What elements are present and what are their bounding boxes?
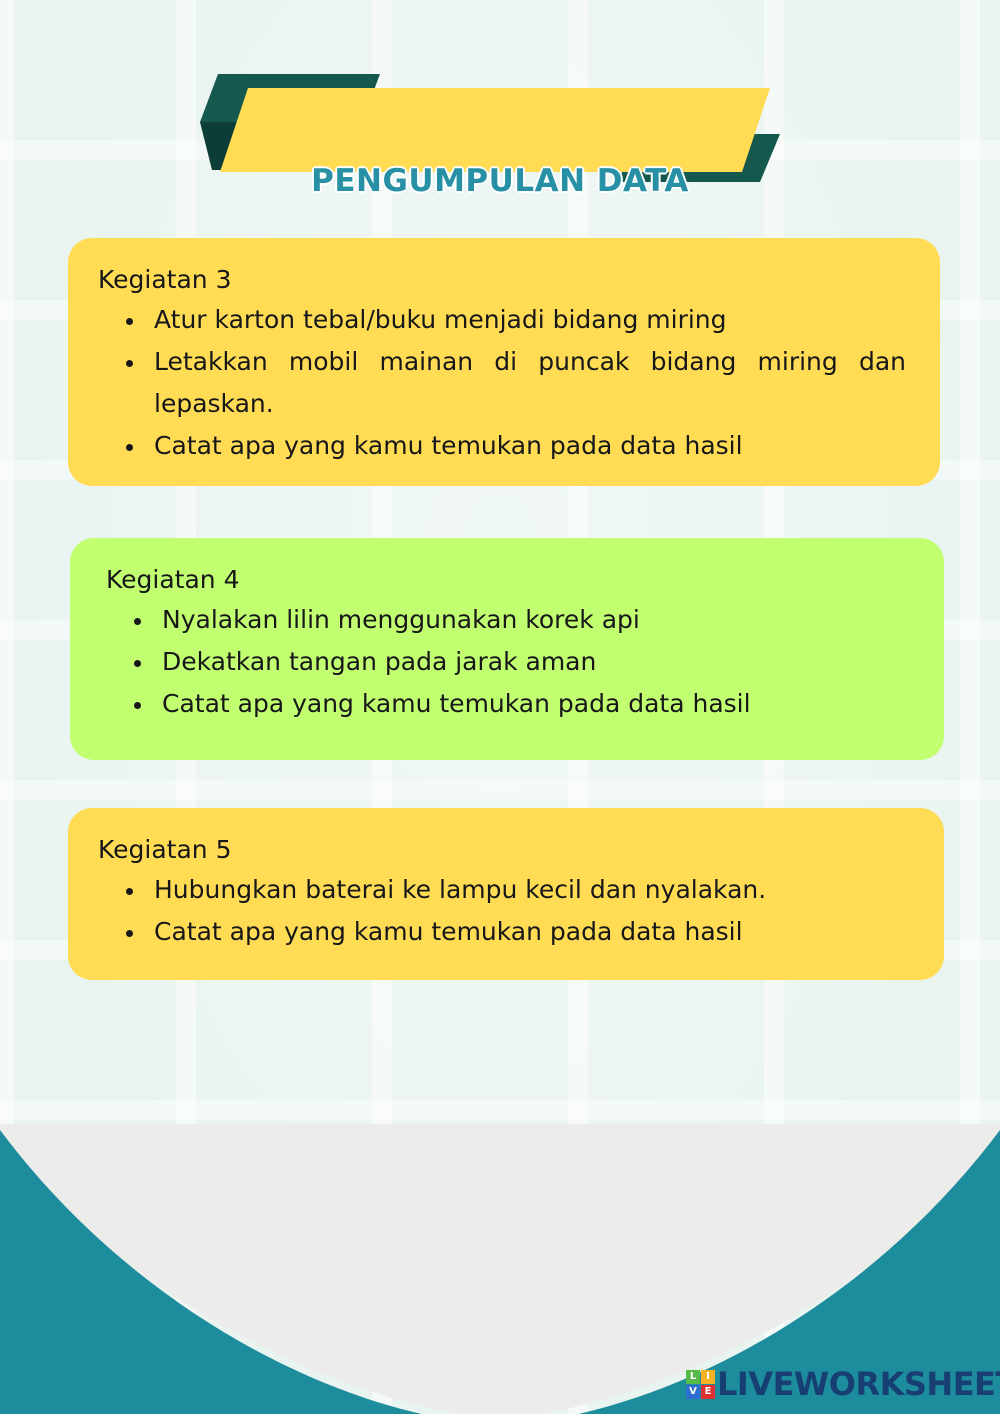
logo-tile-i: I <box>701 1370 715 1384</box>
activity-card-kegiatan-4: Kegiatan 4 Nyalakan lilin menggunakan ko… <box>70 538 944 760</box>
list-item: Catat apa yang kamu temukan pada data ha… <box>148 911 910 953</box>
logo-tile-l: L <box>686 1370 700 1384</box>
worksheet-page: PENGUMPULAN DATA Kegiatan 3 Atur karton … <box>0 0 1000 1414</box>
page-title: PENGUMPULAN DATA <box>0 163 1000 199</box>
list-item: Hubungkan baterai ke lampu kecil dan nya… <box>148 869 910 911</box>
liveworksheets-wordmark: LIVEWORKSHEETS <box>717 1368 1000 1400</box>
card-list-kegiatan-4: Nyalakan lilin menggunakan korek api Dek… <box>106 599 910 725</box>
card-title-kegiatan-3: Kegiatan 3 <box>98 264 906 297</box>
logo-tile-e: E <box>701 1385 715 1399</box>
card-title-kegiatan-4: Kegiatan 4 <box>106 564 910 597</box>
footer-decoration: L I V E LIVEWORKSHEETS <box>0 1124 1000 1414</box>
card-title-kegiatan-5: Kegiatan 5 <box>98 834 910 867</box>
list-item: Letakkan mobil mainan di puncak bidang m… <box>148 341 906 425</box>
list-item: Dekatkan tangan pada jarak aman <box>156 641 910 683</box>
list-item: Catat apa yang kamu temukan pada data ha… <box>156 683 910 725</box>
card-list-kegiatan-3: Atur karton tebal/buku menjadi bidang mi… <box>98 299 906 467</box>
list-item: Catat apa yang kamu temukan pada data ha… <box>148 425 906 467</box>
header-ribbon: PENGUMPULAN DATA <box>0 60 1000 200</box>
logo-tile-v: V <box>686 1385 700 1399</box>
activity-card-kegiatan-3: Kegiatan 3 Atur karton tebal/buku menjad… <box>68 238 940 486</box>
page-title-text: PENGUMPULAN DATA <box>311 163 689 199</box>
ribbon-banner <box>220 88 770 172</box>
liveworksheets-logo-tiles: L I V E <box>686 1370 715 1399</box>
list-item: Nyalakan lilin menggunakan korek api <box>156 599 910 641</box>
activity-card-kegiatan-5: Kegiatan 5 Hubungkan baterai ke lampu ke… <box>68 808 944 980</box>
list-item: Atur karton tebal/buku menjadi bidang mi… <box>148 299 906 341</box>
liveworksheets-logo[interactable]: L I V E LIVEWORKSHEETS <box>686 1362 1000 1406</box>
card-list-kegiatan-5: Hubungkan baterai ke lampu kecil dan nya… <box>98 869 910 953</box>
